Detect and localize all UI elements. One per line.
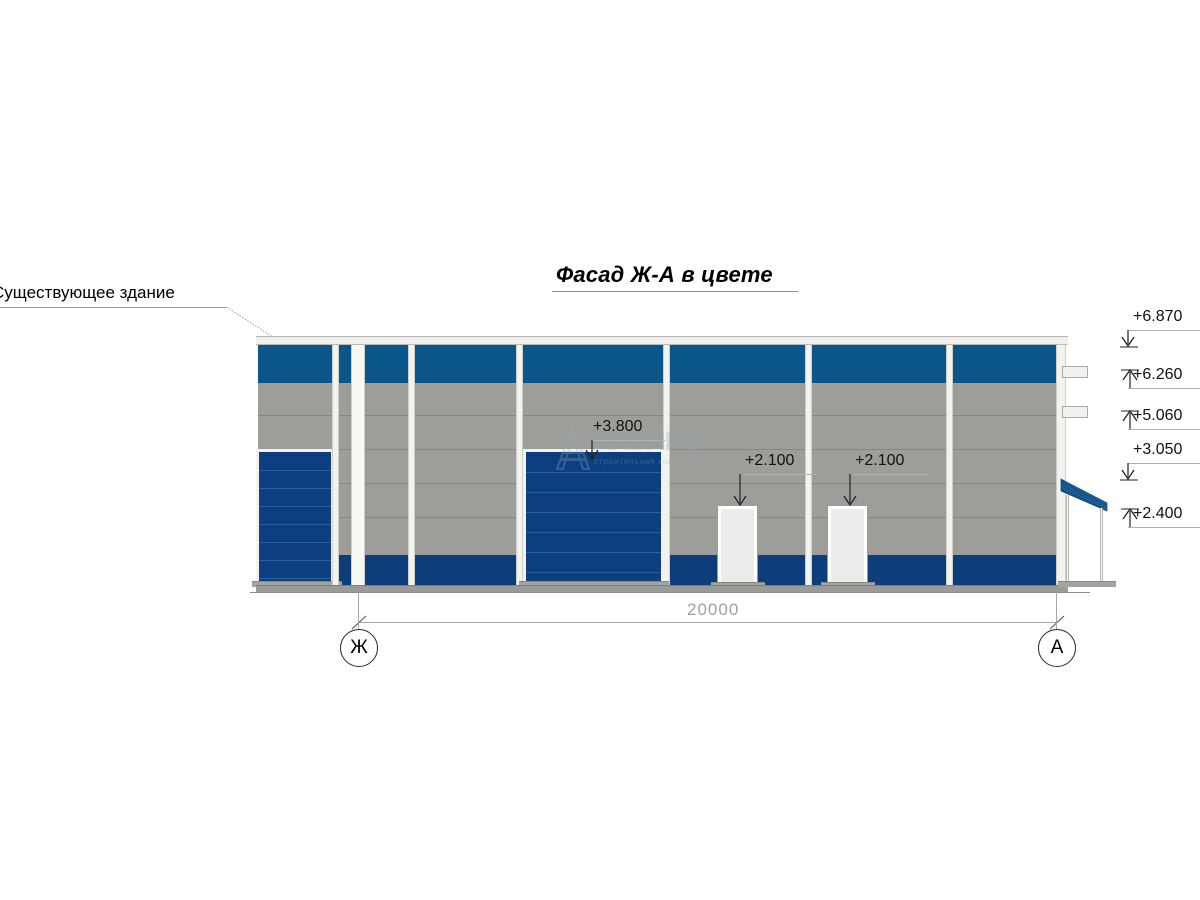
elevation-arrow-6870-down xyxy=(1118,330,1140,350)
elevation-label-3050: +3.050 xyxy=(1133,441,1182,459)
mullion-column xyxy=(351,345,365,585)
mullion xyxy=(408,345,415,585)
axis-label-left: Ж xyxy=(350,637,368,659)
canopy-post-left xyxy=(1066,495,1069,583)
canopy-post-right xyxy=(1100,508,1103,583)
elevation-arrow-5060-up xyxy=(1118,407,1140,429)
elevation-rule-5060 xyxy=(1128,429,1200,430)
elevation-rule-2100-left xyxy=(743,474,817,475)
elevation-arrow-2100-left xyxy=(732,474,752,508)
elevation-rule-2400 xyxy=(1128,527,1200,528)
axis-bubble-left: Ж xyxy=(340,629,378,667)
main-gate xyxy=(523,449,664,587)
door-left xyxy=(718,506,757,587)
mullion xyxy=(805,345,812,585)
annotation-leader-rule xyxy=(0,307,226,308)
elevation-drawing-canvas: Фасад Ж-А в цвете Существующее здание xyxy=(0,0,1200,900)
left-sectional-gate xyxy=(256,449,334,587)
axis-label-right: А xyxy=(1051,637,1064,659)
elevation-label-6260: +6.260 xyxy=(1133,366,1182,384)
elevation-label-5060: +5.060 xyxy=(1133,407,1182,425)
elevation-arrow-2100-right xyxy=(842,474,862,508)
panel-seam xyxy=(258,415,1066,416)
building-elevation xyxy=(256,336,1068,590)
elevation-label-3800: +3.800 xyxy=(593,418,642,436)
elevation-arrow-6260-up xyxy=(1118,366,1140,388)
parapet-cap xyxy=(256,336,1068,345)
mullion xyxy=(946,345,953,585)
wall-tab-upper xyxy=(1062,366,1088,378)
elevation-arrow-2400-up xyxy=(1118,505,1140,527)
door-right xyxy=(828,506,867,587)
dim-line-overall xyxy=(358,622,1056,623)
ground-line xyxy=(250,592,1090,593)
wall-tab-lower xyxy=(1062,406,1088,418)
mullion xyxy=(332,345,339,585)
axis-stem-right xyxy=(1056,622,1057,629)
page-title-underline xyxy=(552,291,798,292)
elevation-arrow-3800 xyxy=(584,440,604,462)
canopy-base xyxy=(1058,581,1116,587)
mullion xyxy=(1056,345,1066,585)
annotation-existing-building: Существующее здание xyxy=(0,283,175,303)
elevation-label-2100-left: +2.100 xyxy=(745,452,794,470)
mullion xyxy=(516,345,523,585)
elevation-label-2400: +2.400 xyxy=(1133,505,1182,523)
elevation-arrow-3050-down xyxy=(1118,463,1140,485)
elevation-rule-2100-right xyxy=(853,474,927,475)
top-blue-band xyxy=(258,345,1066,383)
axis-bubble-right: А xyxy=(1038,629,1076,667)
page-title: Фасад Ж-А в цвете xyxy=(556,262,773,288)
elevation-label-6870: +6.870 xyxy=(1133,308,1182,326)
dim-label-overall: 20000 xyxy=(687,600,739,620)
axis-stem-left xyxy=(358,622,359,629)
mullion xyxy=(663,345,670,585)
building-plinth xyxy=(256,585,1068,592)
elevation-rule-6260 xyxy=(1128,388,1200,389)
elevation-label-2100-right: +2.100 xyxy=(855,452,904,470)
